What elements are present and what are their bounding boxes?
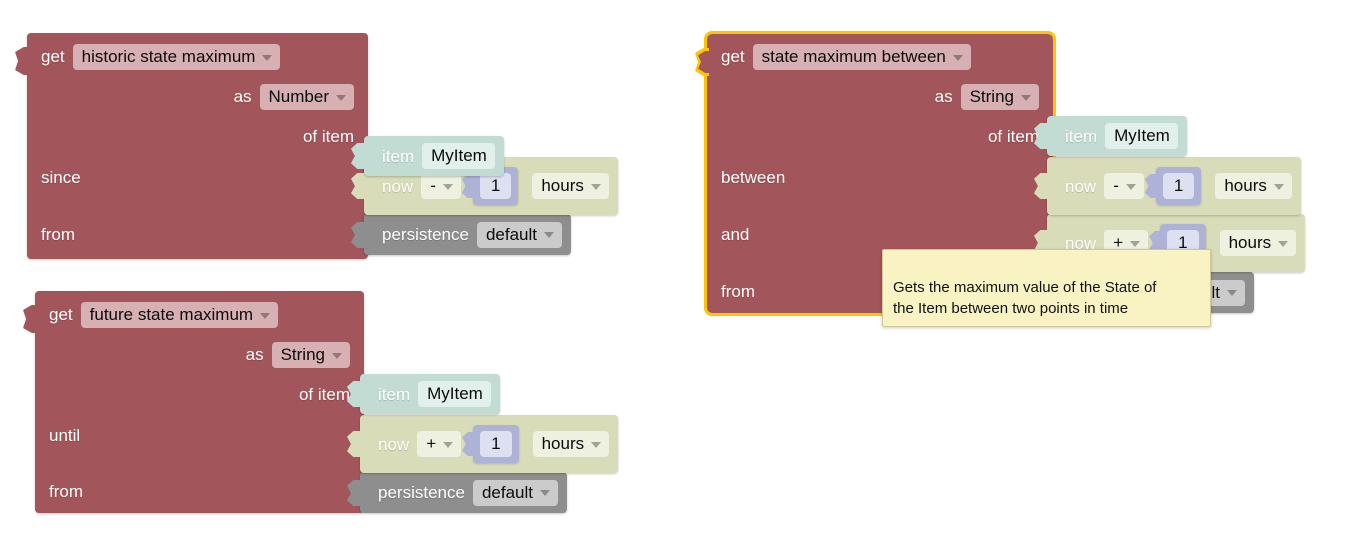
number-field[interactable]: 1 — [1163, 173, 1194, 199]
time-unit-value: hours — [1229, 233, 1272, 252]
row-return-type: as String — [935, 82, 1039, 112]
row-of-item: of item — [988, 122, 1039, 152]
return-type-dropdown[interactable]: Number — [260, 84, 354, 110]
row-and: and — [721, 220, 749, 250]
row-label-between: between — [721, 169, 785, 187]
chevron-down-icon — [262, 55, 272, 61]
row-of-item: of item — [303, 122, 354, 152]
item-name-field[interactable]: MyItem — [422, 143, 495, 169]
row-label-get: get — [41, 48, 65, 66]
row-label-get: get — [49, 306, 73, 324]
tooltip-text: Gets the maximum value of the State of t… — [893, 279, 1156, 317]
persistence-service-dropdown[interactable]: default — [473, 480, 558, 506]
datetime-offset-block[interactable]: now + 1 hours — [360, 415, 618, 473]
number-field[interactable]: 1 — [480, 173, 511, 199]
chevron-down-icon — [1021, 95, 1031, 101]
persistence-service-label: persistence — [382, 225, 469, 244]
time-unit-dropdown[interactable]: hours — [532, 173, 609, 199]
number-value: 1 — [491, 176, 500, 195]
row-label-until: until — [49, 427, 80, 445]
row-label-as: as — [246, 346, 264, 364]
number-field[interactable]: 1 — [480, 431, 511, 457]
chevron-down-icon — [544, 232, 554, 238]
offset-operator-value: + — [426, 434, 436, 453]
block-tooltip: Gets the maximum value of the State of t… — [882, 249, 1211, 327]
persistence-service-block[interactable]: persistence default — [360, 472, 567, 513]
persistence-method-dropdown[interactable]: state maximum between — [753, 44, 971, 70]
dropdown-value: state maximum between — [762, 47, 946, 66]
dropdown-value: Number — [269, 87, 329, 106]
time-unit-value: hours — [1224, 176, 1267, 195]
row-return-type: as Number — [234, 82, 354, 112]
time-unit-dropdown[interactable]: hours — [1215, 173, 1292, 199]
item-block[interactable]: item MyItem — [360, 374, 500, 414]
row-method: get historic state maximum — [41, 42, 280, 72]
persistence-method-dropdown[interactable]: historic state maximum — [73, 44, 281, 70]
chevron-down-icon — [591, 442, 601, 448]
dropdown-value: historic state maximum — [82, 47, 256, 66]
row-label-get: get — [721, 48, 745, 66]
persistence-method-dropdown[interactable]: future state maximum — [81, 302, 278, 328]
offset-operator-value: - — [1113, 176, 1119, 195]
block-body[interactable]: get future state maximum as String of it… — [35, 291, 364, 513]
row-label-of-item: of item — [303, 128, 354, 146]
dropdown-value: String — [970, 87, 1014, 106]
row-label-of-item: of item — [299, 386, 350, 404]
persistence-service-value: default — [482, 483, 533, 502]
offset-operator-dropdown[interactable]: - — [1104, 173, 1144, 199]
item-name-value: MyItem — [1114, 126, 1170, 145]
chevron-down-icon — [1126, 184, 1136, 190]
offset-operator-dropdown[interactable]: - — [421, 173, 461, 199]
return-type-dropdown[interactable]: String — [961, 84, 1039, 110]
row-method: get state maximum between — [721, 42, 971, 72]
row-label-since: since — [41, 169, 81, 187]
chevron-down-icon — [1227, 290, 1237, 296]
time-unit-value: hours — [542, 434, 585, 453]
chevron-down-icon — [443, 184, 453, 190]
offset-operator-dropdown[interactable]: + — [417, 431, 461, 457]
row-until: until — [49, 421, 80, 451]
row-method: get future state maximum — [49, 300, 278, 330]
time-unit-value: hours — [541, 176, 584, 195]
chevron-down-icon — [332, 353, 342, 359]
time-unit-dropdown[interactable]: hours — [1220, 230, 1297, 256]
row-from: from — [49, 477, 83, 507]
output-connector-icon — [23, 305, 37, 333]
chevron-down-icon — [1278, 241, 1288, 247]
row-label-of-item: of item — [988, 128, 1039, 146]
dropdown-value: String — [281, 345, 325, 364]
offset-operator-value: - — [430, 176, 436, 195]
item-block-label: item — [382, 147, 414, 166]
row-label-as: as — [234, 88, 252, 106]
row-label-as: as — [935, 88, 953, 106]
chevron-down-icon — [336, 95, 346, 101]
chevron-down-icon — [540, 490, 550, 496]
persistence-service-value: default — [486, 225, 537, 244]
row-label-and: and — [721, 226, 749, 244]
chevron-down-icon — [1274, 184, 1284, 190]
datetime-now-label: now — [378, 435, 409, 454]
persistence-service-dropdown[interactable]: default — [477, 222, 562, 248]
item-block-label: item — [378, 385, 410, 404]
number-value: 1 — [491, 434, 500, 453]
item-block[interactable]: item MyItem — [1047, 116, 1187, 156]
row-from: from — [41, 220, 75, 250]
chevron-down-icon — [591, 184, 601, 190]
row-between: between — [721, 163, 785, 193]
blockly-workspace[interactable]: get historic state maximum as Number of … — [0, 0, 1372, 534]
chevron-down-icon — [953, 55, 963, 61]
item-name-field[interactable]: MyItem — [418, 381, 491, 407]
row-of-item: of item — [299, 380, 350, 410]
datetime-now-label: now — [382, 177, 413, 196]
persistence-service-block[interactable]: persistence default — [364, 214, 571, 255]
output-connector-icon — [15, 47, 29, 75]
persistence-service-label: persistence — [378, 483, 465, 502]
item-name-field[interactable]: MyItem — [1105, 123, 1178, 149]
block-body[interactable]: get historic state maximum as Number of … — [27, 33, 368, 259]
row-from: from — [721, 277, 755, 307]
number-block[interactable]: 1 — [473, 425, 518, 463]
row-label-from: from — [49, 483, 83, 501]
row-since: since — [41, 163, 81, 193]
chevron-down-icon — [260, 313, 270, 319]
item-name-value: MyItem — [427, 384, 483, 403]
row-label-from: from — [41, 226, 75, 244]
chevron-down-icon — [1130, 241, 1140, 247]
row-label-from: from — [721, 283, 755, 301]
chevron-down-icon — [443, 442, 453, 448]
datetime-now-label: now — [1065, 177, 1096, 196]
datetime-offset-block[interactable]: now - 1 hours — [1047, 157, 1301, 215]
item-name-value: MyItem — [431, 146, 487, 165]
dropdown-value: future state maximum — [90, 305, 253, 324]
number-value: 1 — [1174, 176, 1183, 195]
time-unit-dropdown[interactable]: hours — [533, 431, 610, 457]
return-type-dropdown[interactable]: String — [272, 342, 350, 368]
row-return-type: as String — [246, 340, 350, 370]
number-block[interactable]: 1 — [1156, 167, 1201, 205]
item-block-label: item — [1065, 127, 1097, 146]
item-block[interactable]: item MyItem — [364, 136, 504, 176]
